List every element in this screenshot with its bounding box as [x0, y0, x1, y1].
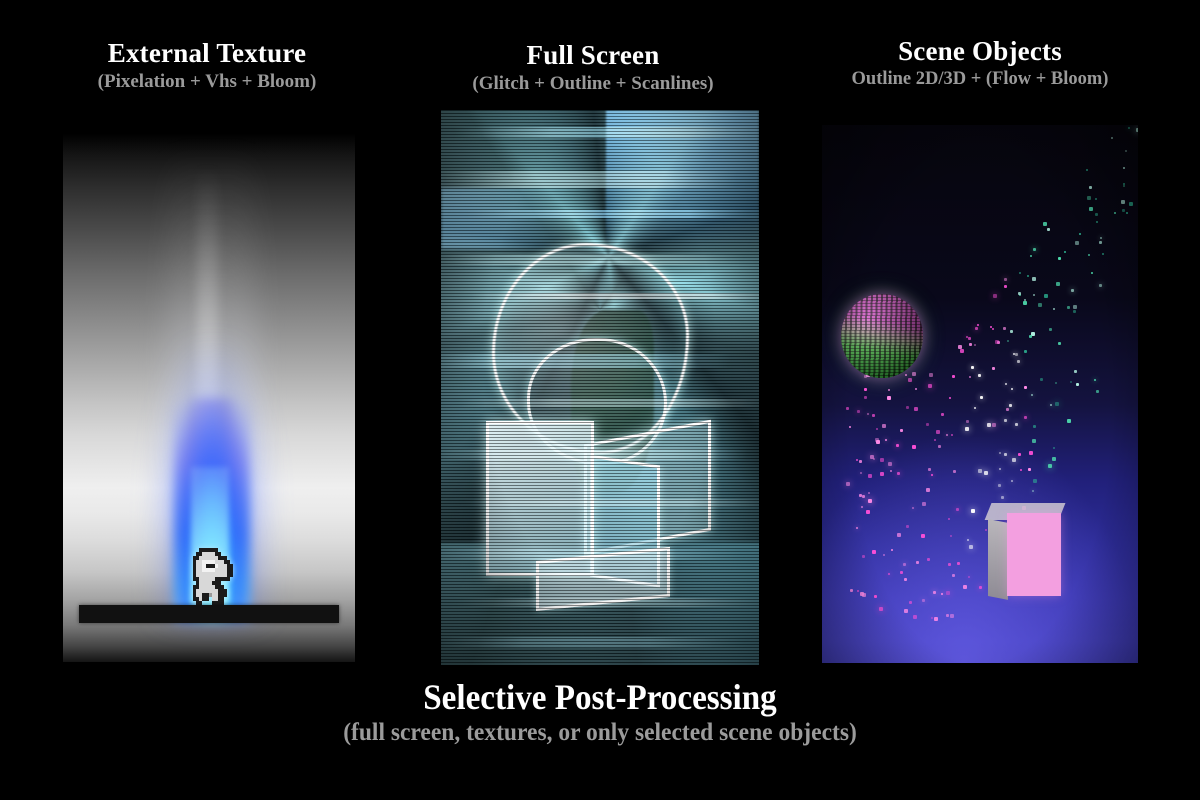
flow-particle: [885, 439, 887, 441]
flow-particle: [900, 429, 903, 432]
flow-particle: [1122, 209, 1125, 212]
flow-particle: [1123, 185, 1125, 187]
flow-particle: [864, 396, 867, 399]
flow-particle: [985, 529, 987, 531]
flow-particle: [860, 592, 864, 596]
flow-particle: [960, 349, 964, 353]
pixel-flow-particle-field: [822, 125, 1138, 663]
flow-particle: [946, 434, 948, 436]
glitch-slice: [467, 210, 759, 218]
flow-particle: [1095, 213, 1098, 216]
flow-particle: [1004, 419, 1007, 422]
flow-particle: [866, 510, 870, 514]
glitch-slice: [471, 293, 759, 299]
flow-particle: [1032, 277, 1036, 281]
flow-particle: [1028, 468, 1031, 471]
flow-particle: [1067, 419, 1071, 423]
flow-particle: [1099, 241, 1102, 244]
flow-particle: [1040, 378, 1043, 381]
flow-particle: [850, 589, 853, 592]
flow-particle: [1048, 464, 1052, 468]
flow-particle: [846, 407, 849, 410]
flow-particle: [1128, 127, 1130, 129]
flow-particle: [912, 445, 916, 449]
flow-particle: [1123, 167, 1125, 169]
flow-particle: [1004, 278, 1007, 281]
flow-particle: [946, 614, 949, 617]
flow-particle: [1075, 241, 1079, 245]
flow-particle: [1007, 340, 1009, 342]
glitch-slice: [457, 598, 759, 606]
flow-particle: [1003, 327, 1006, 330]
flow-particle: [966, 420, 969, 423]
flow-particle: [1033, 425, 1036, 428]
flow-particle: [1088, 254, 1090, 256]
flow-particle: [1009, 404, 1012, 407]
footer-title: Selective Post-Processing: [48, 676, 1152, 718]
footer-subtitle: (full screen, textures, or only selected…: [36, 718, 1164, 748]
flow-particle: [1005, 383, 1007, 385]
flow-particle: [857, 410, 860, 413]
flow-particle: [1073, 310, 1076, 313]
flow-particle: [882, 424, 886, 428]
flow-particle: [1030, 255, 1032, 257]
flow-particle: [971, 366, 974, 369]
flow-particle: [1086, 169, 1088, 171]
flow-particle: [953, 470, 956, 473]
pink-box-side-face: [988, 519, 1008, 600]
flow-particle: [1123, 183, 1125, 185]
poster-canvas: External Texture (Pixelation + Vhs + Blo…: [0, 0, 1200, 800]
flow-particle: [1053, 308, 1055, 310]
flow-particle: [984, 471, 988, 475]
flow-particle: [888, 462, 892, 466]
flow-particle: [1114, 212, 1116, 214]
flow-particle: [1001, 496, 1004, 499]
flow-particle: [1004, 285, 1007, 288]
flow-particle: [906, 525, 909, 528]
flow-particle: [1129, 202, 1133, 206]
flow-particle: [1031, 394, 1033, 396]
flow-particle: [876, 428, 878, 430]
flow-particle: [929, 373, 933, 377]
flow-particle: [958, 345, 962, 349]
flow-particle: [1013, 353, 1015, 355]
flow-particle: [992, 328, 994, 330]
flow-particle: [926, 423, 929, 426]
flow-particle: [1033, 479, 1037, 483]
flow-particle: [941, 413, 944, 416]
flow-particle: [846, 482, 850, 486]
panel-title-full-screen: Full Screen: [396, 40, 790, 70]
flow-particle: [1029, 451, 1033, 455]
flow-particle: [856, 459, 858, 461]
flow-particle: [1087, 196, 1091, 200]
flow-particle: [1070, 381, 1072, 383]
flow-particle: [1044, 294, 1048, 298]
flow-particle: [936, 430, 940, 434]
flow-particle: [971, 509, 975, 513]
flow-particle: [904, 609, 908, 613]
flow-particle: [1027, 275, 1029, 277]
flow-particle: [1056, 282, 1060, 286]
flow-particle: [949, 397, 951, 399]
flow-particle: [1047, 228, 1050, 231]
platform-bar: [79, 605, 339, 623]
flow-particle: [1089, 186, 1092, 189]
flow-particle: [872, 550, 876, 554]
flow-particle: [874, 595, 877, 598]
flow-particle: [948, 518, 950, 520]
flow-particle: [980, 396, 983, 399]
flow-particle: [951, 434, 953, 436]
flow-particle: [1091, 272, 1093, 274]
glitch-blue-flash-left: [441, 188, 575, 249]
flow-particle: [870, 455, 874, 459]
flow-particle: [916, 561, 919, 564]
glitch-slice: [455, 127, 759, 138]
flow-particle: [862, 555, 865, 558]
flow-particle: [860, 472, 862, 474]
flow-particle: [922, 599, 925, 602]
flow-particle: [1032, 439, 1036, 443]
glitch-slice: [441, 254, 743, 265]
panel-heading-scene-objects: Scene Objects Outline 2D/3D + (Flow + Bl…: [780, 36, 1180, 91]
flow-particle: [906, 406, 909, 409]
flow-particle: [868, 499, 872, 503]
flow-particle: [977, 324, 979, 326]
preview-panel-external-texture: [63, 134, 355, 662]
flow-particle: [992, 423, 996, 427]
flow-particle: [1095, 198, 1097, 200]
flow-particle: [1094, 379, 1096, 381]
flow-particle: [872, 414, 875, 417]
panel-subtitle-external-texture: (Pixelation + Vhs + Bloom): [0, 70, 414, 93]
flow-particle: [1024, 416, 1027, 419]
flow-particle: [897, 472, 900, 475]
flow-particle: [1089, 207, 1093, 211]
flow-particle: [978, 374, 981, 377]
flow-particle: [862, 495, 865, 498]
flow-particle: [1079, 233, 1081, 235]
flow-particle: [1121, 200, 1125, 204]
flow-particle: [978, 469, 982, 473]
flow-particle: [1024, 386, 1027, 389]
flow-particle: [1020, 469, 1022, 471]
flow-particle: [1074, 370, 1077, 373]
panel-title-scene-objects: Scene Objects: [780, 36, 1180, 66]
footer-caption: Selective Post-Processing (full screen, …: [0, 676, 1200, 748]
flow-particle: [1023, 301, 1027, 305]
glitch-slice: [441, 449, 747, 460]
flow-particle: [876, 440, 880, 444]
glitch-slice: [441, 548, 739, 559]
flow-particle: [905, 374, 907, 376]
flow-particle: [1012, 458, 1016, 462]
flow-particle: [928, 468, 931, 471]
flow-particle: [1032, 490, 1034, 492]
flow-particle: [1018, 453, 1021, 456]
flow-particle: [887, 396, 891, 400]
flow-particle: [974, 407, 976, 409]
flow-particle: [1049, 328, 1052, 331]
flow-particle: [956, 508, 959, 511]
flow-particle: [1126, 212, 1128, 214]
flow-particle: [950, 535, 952, 537]
flow-particle: [993, 294, 997, 298]
flow-particle: [1015, 353, 1018, 356]
flow-particle: [1052, 457, 1056, 461]
flow-particle: [1011, 388, 1013, 390]
flow-particle: [1064, 251, 1066, 253]
panel-heading-external-texture: External Texture (Pixelation + Vhs + Blo…: [0, 38, 414, 93]
flow-particle: [1018, 292, 1021, 295]
flow-particle: [969, 545, 973, 549]
flow-particle: [1053, 447, 1055, 449]
panel-subtitle-full-screen: (Glitch + Outline + Scanlines): [396, 72, 790, 95]
flow-particle: [849, 426, 851, 428]
flow-particle: [948, 563, 951, 566]
flow-particle: [934, 439, 936, 441]
flow-particle: [857, 590, 859, 592]
flow-particle: [900, 571, 903, 574]
flow-particle: [979, 586, 982, 589]
flow-particle: [859, 460, 862, 463]
flow-particle: [1033, 294, 1035, 296]
flow-particle: [1102, 253, 1104, 255]
flow-particle: [890, 470, 892, 472]
preview-panel-full-screen: [441, 110, 759, 665]
flow-particle: [888, 389, 890, 391]
panel-heading-full-screen: Full Screen (Glitch + Outline + Scanline…: [396, 40, 790, 95]
flow-particle: [938, 445, 941, 448]
flow-particle: [967, 539, 969, 541]
flow-particle: [867, 413, 869, 415]
flow-particle: [880, 458, 884, 462]
flow-particle: [912, 507, 914, 509]
flow-particle: [926, 488, 930, 492]
flow-particle: [856, 527, 858, 529]
flow-particle: [952, 375, 955, 378]
flow-particle: [1038, 303, 1042, 307]
panel-title-external-texture: External Texture: [0, 38, 414, 68]
flow-particle: [1071, 289, 1074, 292]
dithered-outline-sphere: [841, 294, 923, 378]
sphere-shading: [841, 294, 923, 378]
flow-particle: [859, 494, 862, 497]
flow-particle: [998, 484, 1001, 487]
flow-particle: [880, 472, 884, 476]
panel-subtitle-scene-objects: Outline 2D/3D + (Flow + Bloom): [780, 68, 1180, 91]
flow-particle: [1136, 128, 1138, 132]
flow-particle: [921, 534, 925, 538]
flow-particle: [957, 562, 960, 565]
flow-particle: [968, 576, 970, 578]
flow-particle: [1017, 360, 1020, 363]
flow-particle: [864, 388, 867, 391]
flow-particle: [968, 337, 971, 340]
flow-particle: [909, 601, 912, 604]
flow-particle: [1011, 480, 1013, 482]
flow-particle: [1099, 284, 1102, 287]
flow-particle: [931, 474, 933, 476]
flow-particle: [1096, 390, 1099, 393]
flow-particle: [861, 506, 863, 508]
flow-particle: [1058, 257, 1061, 260]
flow-particle: [904, 578, 907, 581]
flow-particle: [922, 502, 926, 506]
pink-box-front-face: [1007, 513, 1061, 596]
flow-particle: [995, 340, 999, 344]
flow-particle: [975, 327, 978, 330]
flow-particle: [1125, 150, 1127, 152]
flow-particle: [946, 591, 950, 595]
flow-particle: [1055, 382, 1057, 384]
flow-particle: [1019, 272, 1021, 274]
flow-particle: [915, 388, 917, 390]
flow-particle: [928, 384, 932, 388]
flow-particle: [1073, 305, 1077, 309]
flow-particle: [1043, 222, 1047, 226]
glitch-slice: [441, 354, 731, 368]
flow-particle: [903, 563, 906, 566]
flow-particle: [999, 452, 1001, 454]
flow-particle: [965, 427, 969, 431]
flow-particle: [950, 614, 954, 618]
glitch-slice: [459, 399, 759, 407]
flow-particle: [941, 593, 943, 595]
flow-particle: [1055, 402, 1059, 406]
flow-particle: [914, 407, 918, 411]
flow-particle: [908, 378, 912, 382]
flow-particle: [1067, 306, 1070, 309]
flow-particle: [934, 617, 938, 621]
glitch-slice: [465, 499, 759, 507]
flow-particle: [933, 591, 936, 594]
flow-particle: [1010, 330, 1013, 333]
flow-particle: [992, 367, 995, 370]
flow-particle: [963, 585, 967, 589]
flow-particle: [999, 468, 1001, 470]
flow-particle: [1033, 248, 1036, 251]
flow-particle: [891, 549, 893, 551]
flow-particle: [969, 343, 972, 346]
flow-particle: [1096, 221, 1098, 223]
flow-particle: [868, 474, 872, 478]
flow-particle: [1076, 383, 1079, 386]
flow-particle: [912, 372, 916, 376]
flow-particle: [913, 615, 917, 619]
flow-particle: [897, 533, 901, 537]
glitch-slice: [441, 637, 745, 648]
flow-particle: [1015, 423, 1018, 426]
flow-particle: [896, 444, 899, 447]
flow-particle: [952, 574, 955, 577]
preview-panel-scene-objects: [822, 125, 1138, 663]
flow-particle: [969, 376, 971, 378]
flow-particle: [1050, 404, 1052, 406]
flow-particle: [1111, 137, 1113, 139]
flow-particle: [1058, 342, 1061, 345]
flow-particle: [1024, 350, 1027, 353]
flow-particle: [879, 607, 883, 611]
flow-particle: [931, 617, 933, 619]
flow-particle: [883, 554, 885, 556]
glitch-slice: [441, 171, 737, 188]
flow-particle: [1006, 408, 1009, 411]
flow-particle: [974, 344, 976, 346]
flow-particle: [987, 423, 991, 427]
flow-particle: [1004, 453, 1007, 456]
flow-particle: [1100, 237, 1102, 239]
flow-particle: [888, 573, 890, 575]
flow-particle: [927, 558, 930, 561]
pixel-creature-sprite: [190, 548, 240, 613]
flow-particle: [868, 492, 870, 494]
